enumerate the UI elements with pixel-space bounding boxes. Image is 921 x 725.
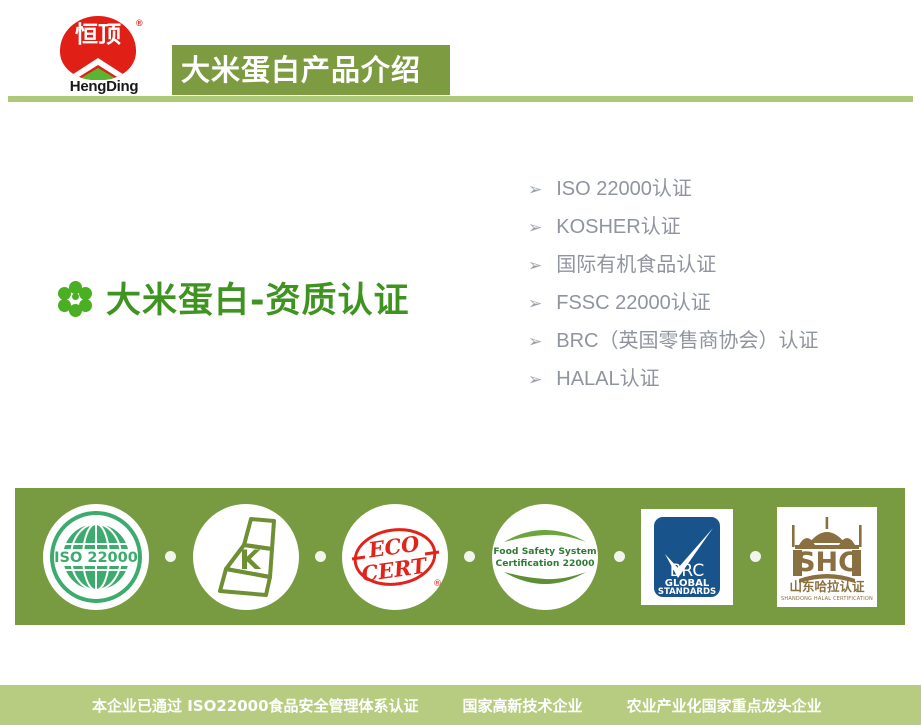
separator-dot-icon: [750, 551, 761, 562]
footer-segment: 国家高新技术企业: [463, 695, 583, 716]
separator-dot-icon: [165, 551, 176, 562]
header-divider: [8, 96, 913, 102]
list-item-label: FSSC 22000认证: [556, 286, 711, 315]
section-heading: 大米蛋白-资质认证: [58, 272, 410, 323]
list-item-label: HALAL认证: [556, 362, 659, 391]
list-item-label: 国际有机食品认证: [556, 248, 716, 277]
ecocert-registered-icon: ®: [433, 579, 442, 589]
ecocert-badge: ECO CERT ®: [342, 504, 448, 610]
certification-list: ➢ ISO 22000认证 ➢ KOSHER认证 ➢ 国际有机食品认证 ➢ FS…: [528, 172, 898, 400]
brc-global-standards-badge: BRC GLOBAL STANDARDS: [641, 509, 733, 605]
separator-dot-icon: [315, 551, 326, 562]
flower-icon: [58, 281, 92, 315]
kosher-badge: K: [193, 504, 299, 610]
footer-segment: 农业产业化国家重点龙头企业: [627, 695, 822, 716]
list-item: ➢ BRC（英国零售商协会）认证: [528, 324, 898, 362]
badge-separator: [149, 551, 193, 562]
page-title: 大米蛋白产品介绍: [172, 45, 450, 95]
shc-badge-label: SHC: [796, 547, 858, 578]
arrow-bullet-icon: ➢: [528, 258, 542, 275]
list-item-label: BRC（英国零售商协会）认证: [556, 324, 818, 353]
fssc-label-line1: Food Safety System: [493, 546, 596, 557]
logo-registered-icon: ®: [136, 18, 143, 28]
badge-slot: BRC GLOBAL STANDARDS: [641, 509, 733, 605]
page-header: 恒顶 ® HengDing 大米蛋白产品介绍: [0, 0, 921, 103]
logo-hanzi-text: 恒顶: [60, 22, 136, 48]
separator-dot-icon: [614, 551, 625, 562]
badge-separator: [448, 551, 492, 562]
badge-separator: [598, 551, 642, 562]
iso-22000-globe-icon: ISO 22000 INTERTEK: [46, 507, 146, 607]
badge-separator: [299, 551, 343, 562]
fssc-22000-icon: Food Safety System Certification 22000: [492, 504, 598, 610]
list-item: ➢ HALAL认证: [528, 362, 898, 400]
company-logo: 恒顶 ® HengDing: [52, 16, 156, 98]
ecocert-icon: ECO CERT ®: [345, 507, 445, 607]
page-title-box: 大米蛋白产品介绍: [172, 45, 450, 95]
iso-22000-badge-label: ISO 22000: [54, 550, 138, 566]
logo-mountain-icon: [62, 56, 134, 80]
fssc-label-line2: Certification 22000: [495, 558, 594, 569]
shc-badge-label-cn: 山东哈拉认证: [789, 579, 865, 594]
list-item: ➢ 国际有机食品认证: [528, 248, 898, 286]
list-item: ➢ KOSHER认证: [528, 210, 898, 248]
badge-separator: [733, 551, 777, 562]
section-heading-label: 大米蛋白-资质认证: [106, 272, 410, 323]
kosher-badge-label: K: [239, 545, 261, 576]
logo-wordmark: HengDing: [52, 78, 156, 95]
arrow-bullet-icon: ➢: [528, 296, 542, 313]
list-item-label: KOSHER认证: [556, 210, 680, 239]
badge-slot: K: [193, 504, 299, 610]
list-item-label: ISO 22000认证: [556, 172, 692, 201]
intertek-arc-label: INTERTEK: [46, 507, 110, 510]
shc-halal-badge: SHC 山东哈拉认证 SHANDONG HALAL CERTIFICATION: [777, 507, 877, 607]
footer-segment: 本企业已通过 ISO22000食品安全管理体系认证: [92, 695, 419, 716]
badge-slot: ISO 22000 INTERTEK: [43, 504, 149, 610]
logo-red-circle: 恒顶: [60, 16, 136, 80]
separator-dot-icon: [464, 551, 475, 562]
shc-mosque-icon: SHC 山东哈拉认证 SHANDONG HALAL CERTIFICATION: [779, 509, 875, 605]
arrow-bullet-icon: ➢: [528, 372, 542, 389]
list-item: ➢ FSSC 22000认证: [528, 286, 898, 324]
brc-label-line3: STANDARDS: [658, 587, 716, 597]
arrow-bullet-icon: ➢: [528, 182, 542, 199]
badge-slot: Food Safety System Certification 22000: [492, 504, 598, 610]
badge-slot: SHC 山东哈拉认证 SHANDONG HALAL CERTIFICATION: [777, 507, 877, 607]
certification-badge-band: ISO 22000 INTERTEK K: [15, 488, 905, 625]
brc-checkmark-icon: BRC GLOBAL STANDARDS: [647, 514, 727, 600]
list-item: ➢ ISO 22000认证: [528, 172, 898, 210]
arrow-bullet-icon: ➢: [528, 220, 542, 237]
fssc-22000-badge: Food Safety System Certification 22000: [492, 504, 598, 610]
kosher-k-icon: K: [196, 507, 296, 607]
page-footer: 本企业已通过 ISO22000食品安全管理体系认证 国家高新技术企业 农业产业化…: [0, 685, 921, 725]
badge-slot: ECO CERT ®: [342, 504, 448, 610]
shc-badge-label-en: SHANDONG HALAL CERTIFICATION: [781, 596, 873, 602]
iso-22000-intertek-badge: ISO 22000 INTERTEK: [43, 504, 149, 610]
arrow-bullet-icon: ➢: [528, 334, 542, 351]
